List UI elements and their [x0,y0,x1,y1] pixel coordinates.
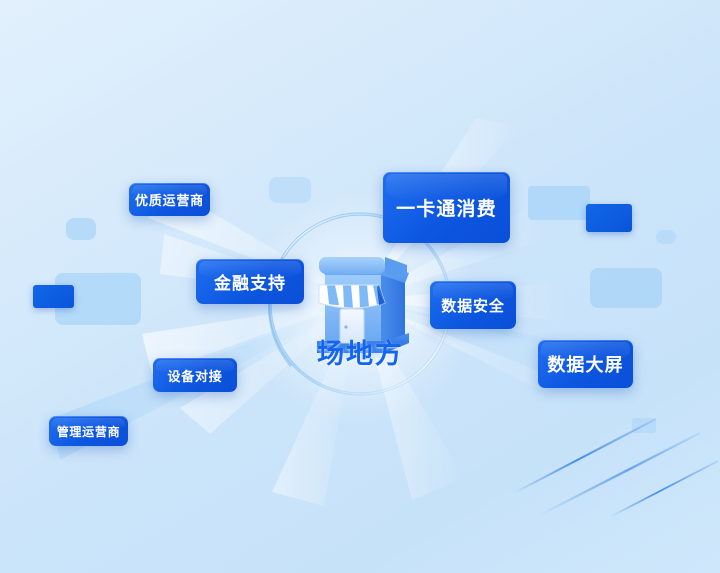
node-chip-youzhi-yunyingshang[interactable]: 优质运营商 [129,183,210,216]
node-chip-guanli-yunyingshang[interactable]: 管理运营商 [49,416,128,446]
node-chip-shuju-dapin[interactable]: 数据大屏 [538,340,633,388]
node-chip-jinrong-zhichi[interactable]: 金融支持 [196,259,304,304]
deco-rect-right-small [656,230,676,244]
deco-rect-right-large [590,268,662,308]
deco-rect-right-accent [586,204,632,232]
node-chip-yikatong-xiaofei[interactable]: 一卡通消费 [383,172,510,243]
deco-rect-mid-top [269,177,311,203]
deco-rect-right-band [528,186,590,220]
deco-rect-left-accent [33,285,74,308]
infographic-canvas: 优质运营商 金融支持 设备对接 管理运营商 一卡通消费 数据安全 数据大屏 [0,0,720,573]
node-chip-label: 一卡通消费 [396,194,497,221]
node-chip-label: 设备对接 [167,366,222,385]
node-chip-label: 管理运营商 [57,423,121,440]
node-chip-shebei-duijie[interactable]: 设备对接 [153,358,237,392]
node-chip-label: 金融支持 [214,269,286,294]
node-chip-label: 数据大屏 [547,351,623,377]
diagonal-streaks [510,411,720,521]
node-chip-shuju-anquan[interactable]: 数据安全 [430,281,516,329]
node-chip-label: 数据安全 [441,295,505,316]
center-node-label: 场地方 [283,332,438,371]
deco-rect-left-small [66,218,96,240]
node-chip-label: 优质运营商 [135,190,204,209]
